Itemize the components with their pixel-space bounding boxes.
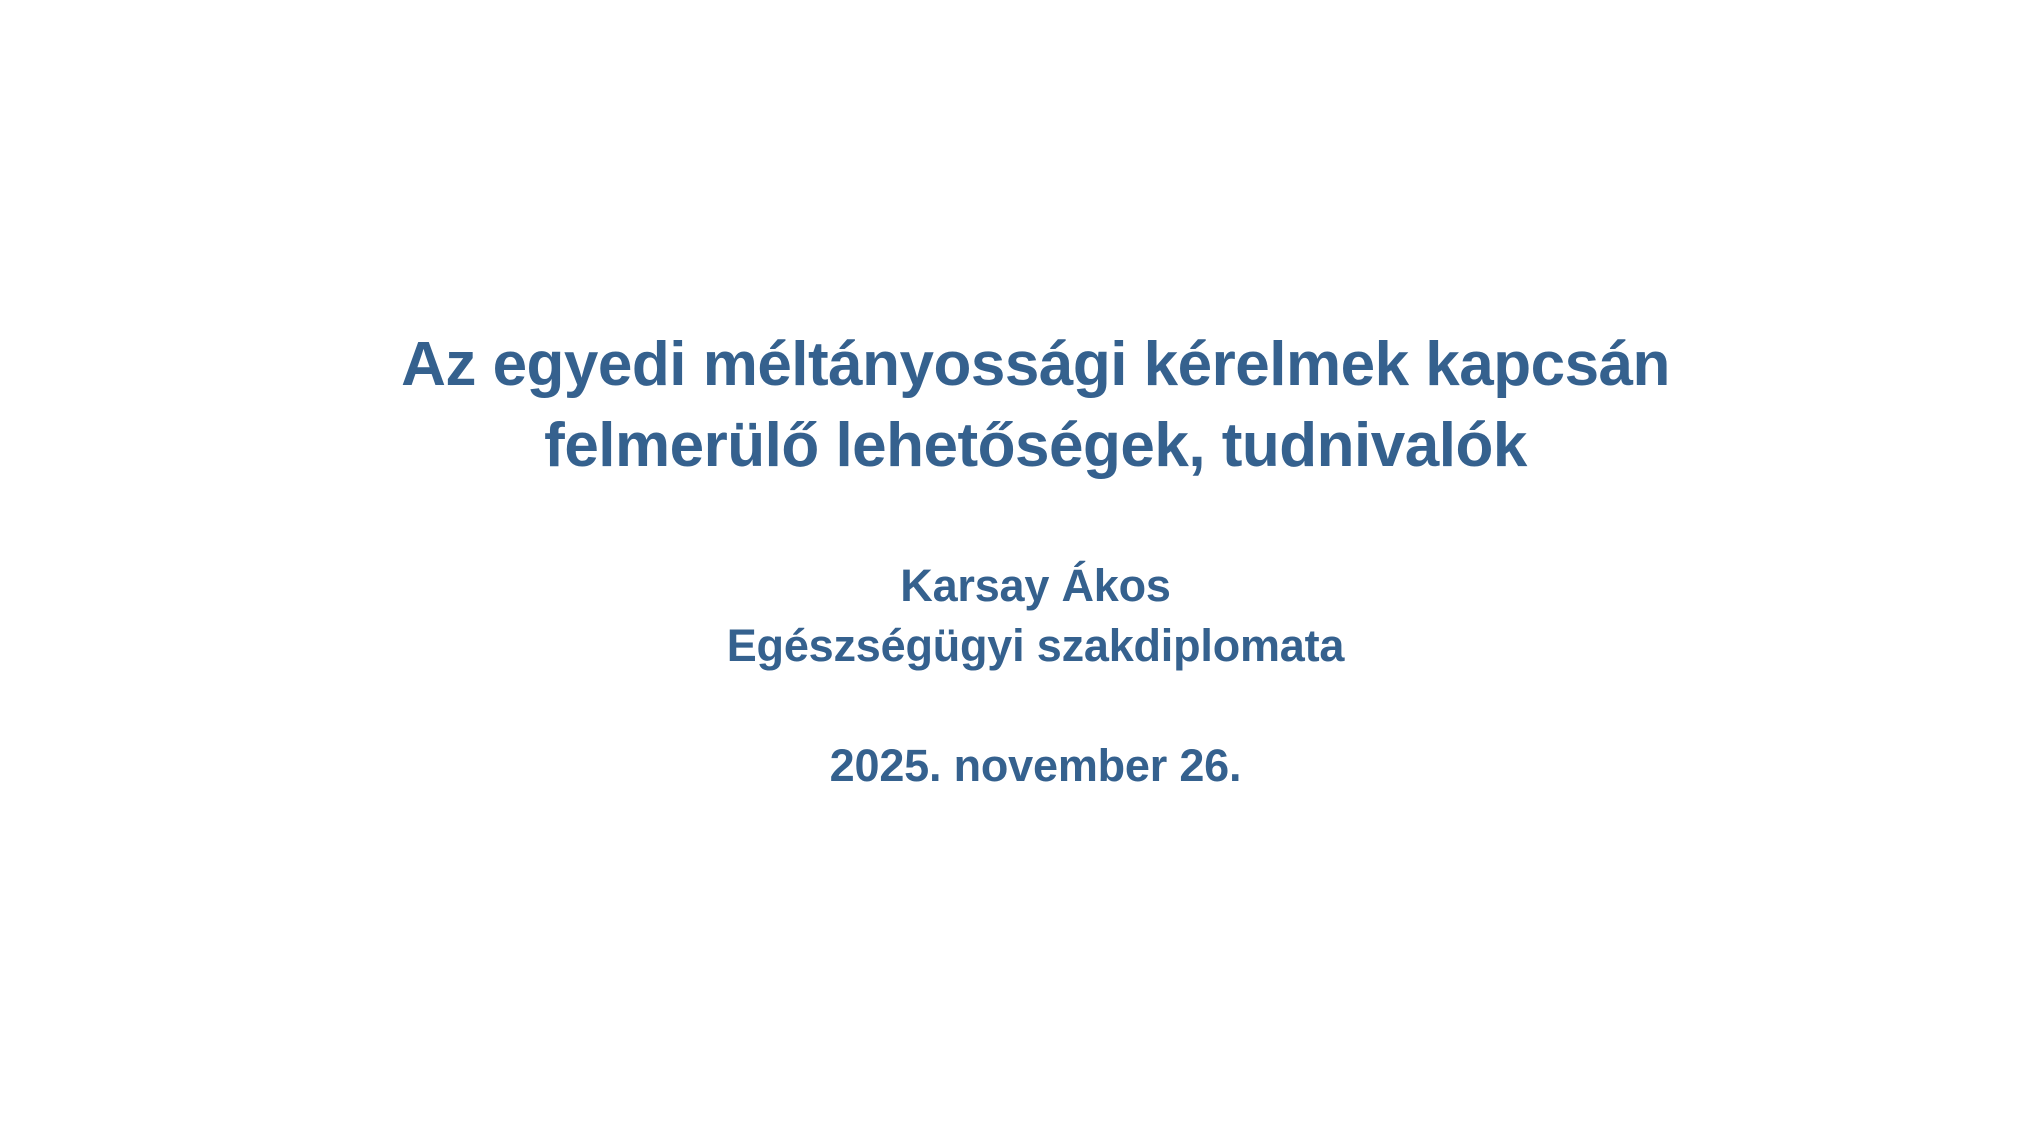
presenter-name: Karsay Ákos (50, 556, 2021, 616)
presentation-date: 2025. november 26. (50, 736, 2021, 796)
slide-title: Az egyedi méltányossági kérelmek kapcsán… (0, 324, 2021, 486)
subtitle-blank-line (50, 676, 2021, 736)
title-slide: Az egyedi méltányossági kérelmek kapcsán… (0, 0, 2021, 1131)
slide-subtitle: Karsay Ákos Egészségügyi szakdiplomata 2… (0, 556, 2021, 796)
presenter-role: Egészségügyi szakdiplomata (50, 616, 2021, 676)
title-line-2: felmerülő lehetőségek, tudnivalók (50, 405, 2021, 486)
title-line-1: Az egyedi méltányossági kérelmek kapcsán (50, 324, 2021, 405)
